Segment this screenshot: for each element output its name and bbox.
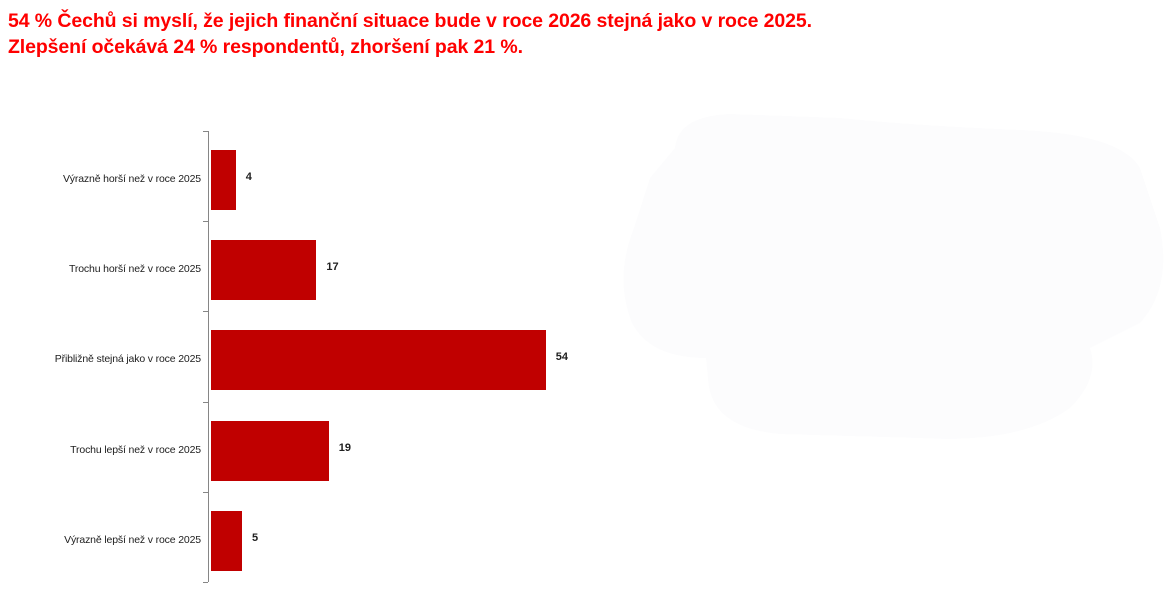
axis-tick [203,402,208,403]
category-label-4: Výrazně lepší než v roce 2025 [0,534,201,546]
axis-tick [203,221,208,222]
bar-value-0: 4 [246,171,252,183]
bar-0[interactable] [211,150,236,210]
bar-row: 5 [209,492,1169,582]
bar-2[interactable] [211,330,546,390]
bar-value-1: 17 [326,261,338,273]
bar-value-3: 19 [339,442,351,454]
bar-row: 4 [209,131,1169,221]
plot-area: 4 17 54 19 5 [209,131,1169,582]
bar-row: 19 [209,402,1169,492]
axis-tick [203,131,208,132]
bar-3[interactable] [211,421,329,481]
bar-row: 54 [209,311,1169,401]
category-label-2: Přibližně stejná jako v roce 2025 [0,353,201,365]
bar-chart: Výrazně horší než v roce 2025 Trochu hor… [0,0,1175,590]
bar-row: 17 [209,221,1169,311]
category-label-3: Trochu lepší než v roce 2025 [0,444,201,456]
axis-tick [203,492,208,493]
category-label-0: Výrazně horší než v roce 2025 [0,173,201,185]
category-label-1: Trochu horší než v roce 2025 [0,263,201,275]
axis-tick [203,582,208,583]
axis-tick [203,311,208,312]
bar-1[interactable] [211,240,316,300]
bar-value-4: 5 [252,532,258,544]
bar-value-2: 54 [556,351,568,363]
bar-4[interactable] [211,511,242,571]
